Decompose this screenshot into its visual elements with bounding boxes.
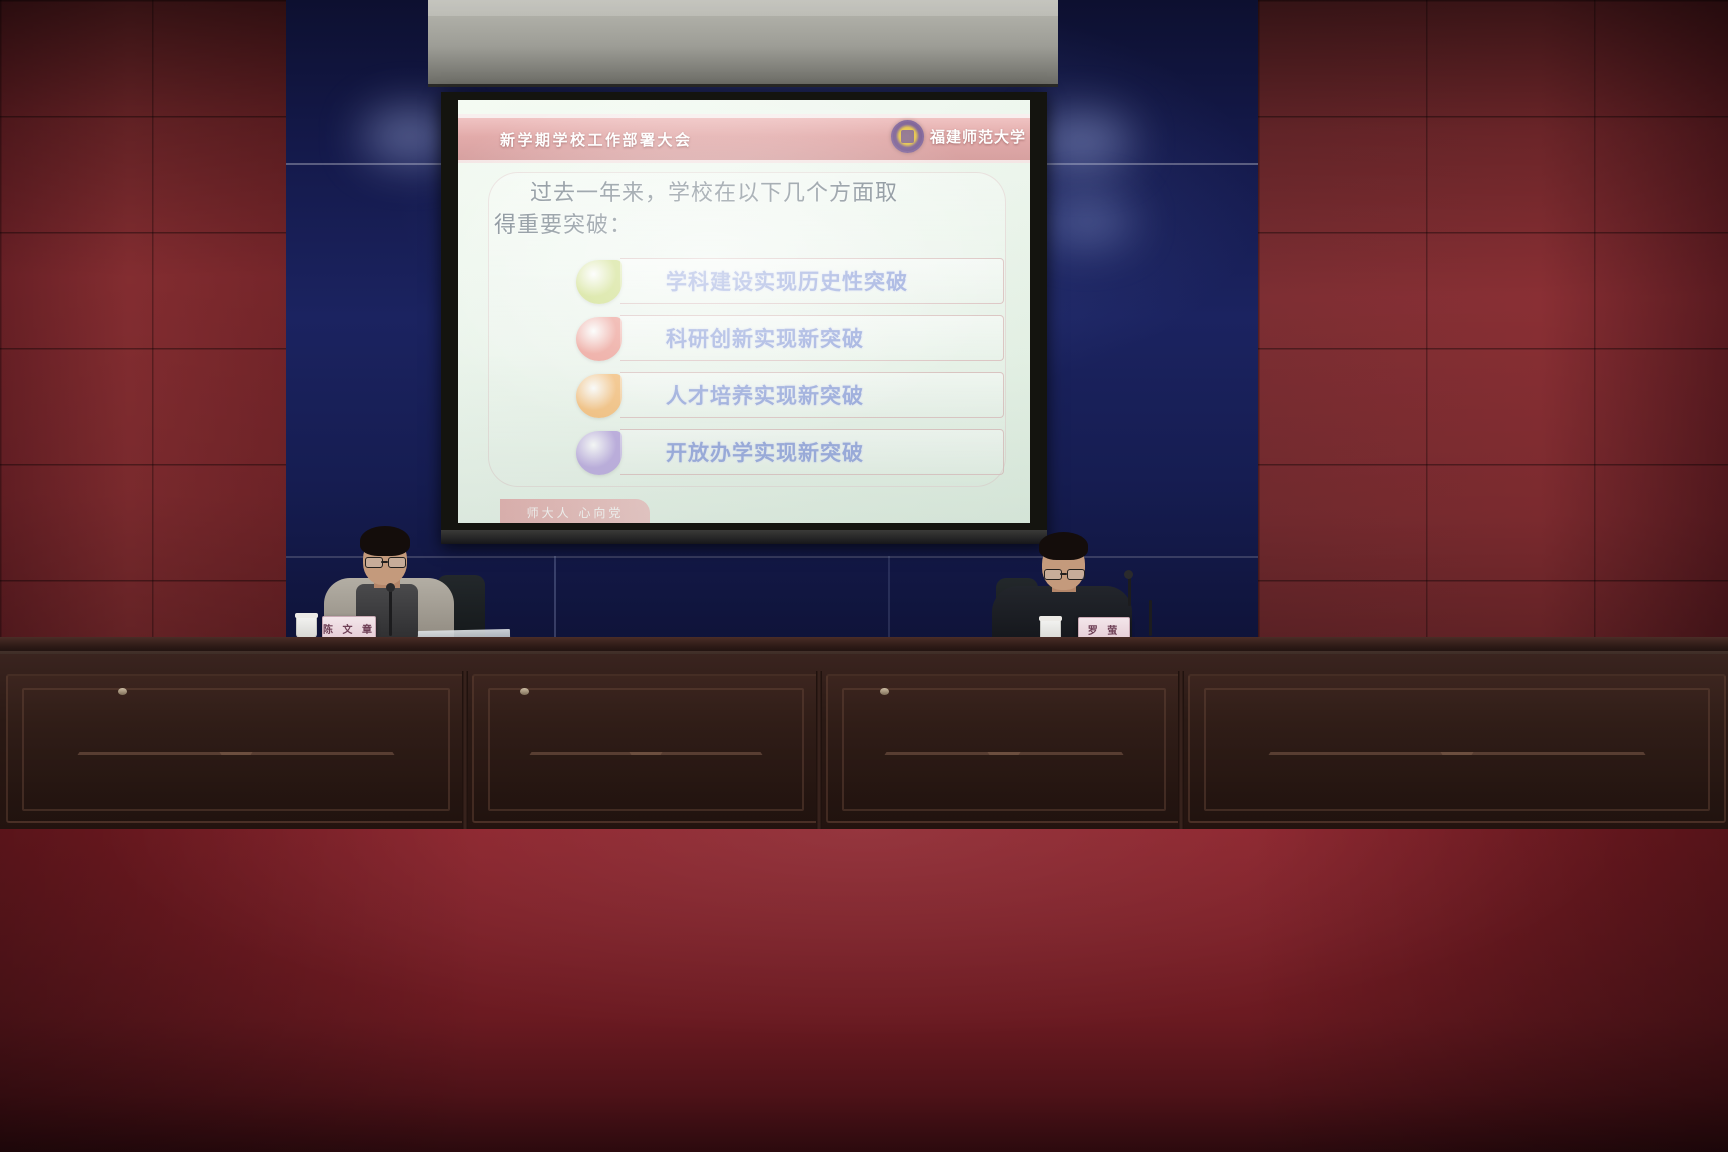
mic-stem-left: [389, 588, 392, 636]
slide-footer-text: 师大人 心向党: [527, 504, 624, 521]
droplet-marker-green: [576, 260, 622, 304]
desk-chevron-2: [515, 752, 776, 798]
glasses-left-bridge: [381, 561, 388, 563]
wall-tile-grid-left: [0, 0, 286, 660]
floor-shading: [0, 829, 1728, 1152]
cup-lid-left: [295, 613, 318, 618]
desk-divider-3: [1178, 671, 1184, 831]
bullet-row-4: 开放办学实现新突破: [576, 429, 1004, 475]
wall-tile-grid-right: [1258, 0, 1728, 660]
slide-brand-group: 福建师范大学: [891, 120, 1026, 153]
projection-screen: 新学期学校工作部署大会 福建师范大学 过去一年来，学校在以下几个方面取 得重要突…: [441, 92, 1047, 544]
bullet-label-4: 开放办学实现新突破: [666, 437, 864, 467]
wall-panel-left-red: [0, 0, 286, 660]
bullet-bar-2: 科研创新实现新突破: [620, 315, 1004, 361]
glasses-left-lens-r: [388, 557, 406, 568]
university-brand-name: 福建师范大学: [930, 126, 1026, 147]
emblem-inner-mark: [901, 130, 914, 143]
wall-light-glow-right-b: [1042, 196, 1134, 246]
wall-seam-lower: [286, 556, 1258, 558]
slide-lead-text: 过去一年来，学校在以下几个方面取 得重要突破：: [494, 178, 976, 242]
glasses-right-bridge: [1060, 573, 1067, 575]
slide-lead-line-2: 得重要突破：: [494, 213, 632, 238]
desk-divider-1: [462, 671, 468, 831]
desk-knob-1: [118, 688, 127, 695]
paper-cup-left: [296, 615, 317, 638]
desk-knob-3: [880, 688, 889, 695]
ceiling-soffit: [428, 0, 1058, 87]
droplet-marker-purple: [576, 431, 622, 475]
mic-head-left: [386, 583, 395, 592]
nameplate-left-text: 陈 文 章: [323, 621, 375, 636]
stage-floor-carpet: [0, 829, 1728, 1152]
desk-chevron-1: [63, 752, 410, 798]
cup-lid-right: [1039, 616, 1062, 621]
bullet-bar-4: 开放办学实现新突破: [620, 429, 1004, 475]
desk-panel-1: [6, 674, 466, 823]
wall-panel-right-red: [1258, 0, 1728, 660]
slide-lead-line-1: 过去一年来，学校在以下几个方面取: [530, 181, 898, 206]
mic-stem-right-lower: [1149, 600, 1152, 636]
bullet-row-2: 科研创新实现新突破: [576, 315, 1004, 361]
glasses-right-lens-r: [1067, 569, 1085, 580]
bullet-label-2: 科研创新实现新突破: [666, 323, 864, 353]
desk-chevron-3: [870, 752, 1138, 798]
desk-front-face: [0, 654, 1728, 831]
slide-header-title: 新学期学校工作部署大会: [500, 129, 693, 150]
soffit-highlight: [428, 0, 1058, 16]
bullet-row-3: 人才培养实现新突破: [576, 372, 1004, 418]
slide-footer-tab: 师大人 心向党: [500, 499, 650, 523]
screen-bottom-rail: [441, 530, 1047, 544]
presentation-slide: 新学期学校工作部署大会 福建师范大学 过去一年来，学校在以下几个方面取 得重要突…: [458, 100, 1030, 523]
hair-right: [1039, 532, 1088, 560]
desk-knob-2: [520, 688, 529, 695]
bullet-bar-3: 人才培养实现新突破: [620, 372, 1004, 418]
wall-light-glow-right-a: [1032, 112, 1132, 170]
mic-stem-right-upper: [1128, 576, 1131, 606]
slide-bullet-list: 学科建设实现历史性突破 科研创新实现新突破 人才培养实现新突破: [576, 258, 1004, 486]
bullet-row-1: 学科建设实现历史性突破: [576, 258, 1004, 304]
droplet-marker-salmon: [576, 317, 622, 361]
desk-panel-2: [472, 674, 820, 823]
desk-chevron-4: [1254, 752, 1660, 798]
nameplate-right-text: 罗 萤: [1088, 622, 1120, 637]
bullet-label-1: 学科建设实现历史性突破: [666, 266, 908, 296]
desk-divider-2: [816, 671, 822, 831]
desk-panel-4: [1188, 674, 1726, 823]
hair-left: [360, 526, 410, 556]
droplet-marker-orange: [576, 374, 622, 418]
bullet-bar-1: 学科建设实现历史性突破: [620, 258, 1004, 304]
mic-head-right: [1124, 570, 1133, 579]
slide-header-bar: 新学期学校工作部署大会 福建师范大学: [458, 114, 1030, 163]
podium-desk: [0, 637, 1728, 831]
desk-panel-3: [826, 674, 1182, 823]
conference-hall-photo: 新学期学校工作部署大会 福建师范大学 过去一年来，学校在以下几个方面取 得重要突…: [0, 0, 1728, 1152]
university-emblem-icon: [891, 120, 924, 153]
bullet-label-3: 人才培养实现新突破: [666, 380, 864, 410]
